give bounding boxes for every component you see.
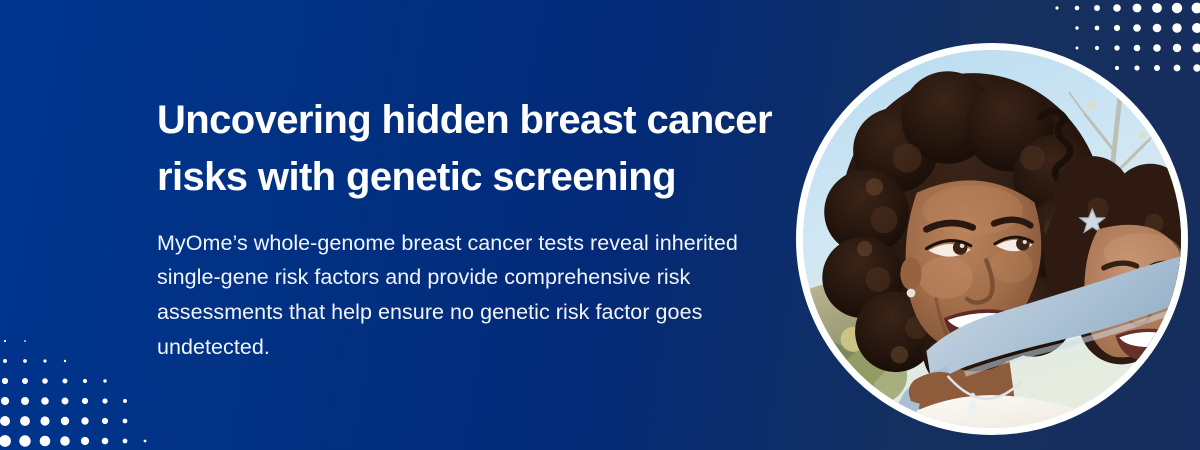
page-title: Uncovering hidden breast cancer risks wi…: [157, 92, 797, 206]
hero-photo: [796, 43, 1188, 435]
promo-banner: Uncovering hidden breast cancer risks wi…: [0, 0, 1200, 450]
banner-text-block: Uncovering hidden breast cancer risks wi…: [157, 92, 797, 365]
banner-description: MyOme’s whole-genome breast cancer tests…: [157, 226, 757, 365]
dot-grid-pattern-bottom-left: [0, 332, 160, 450]
